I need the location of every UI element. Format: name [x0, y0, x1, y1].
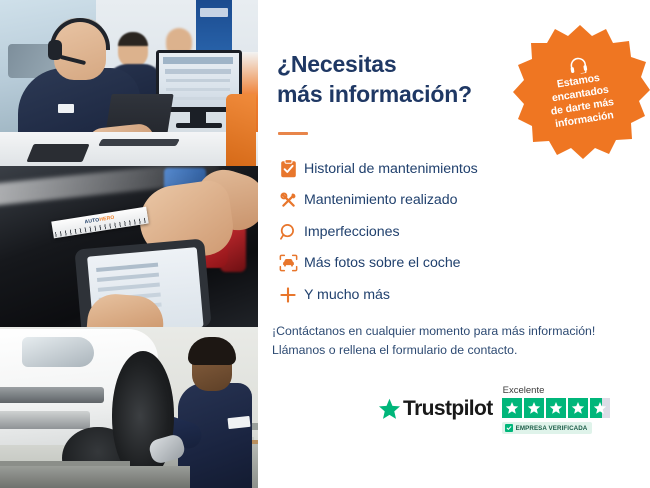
car-lift [0, 466, 190, 488]
contact-text-line-1: ¡Contáctanos en cualquier momento para m… [272, 322, 595, 341]
desk-tablet [26, 144, 89, 162]
starburst-shape [510, 22, 650, 162]
feature-item-maintenance-history: Historial de mantenimientos [272, 153, 612, 185]
star-rating [502, 398, 610, 418]
mechanic-wheel-photo [0, 327, 258, 488]
page-title-line-1: ¿Necesitas [277, 51, 396, 77]
trustpilot-star-icon [378, 398, 401, 420]
car-scan-icon [272, 254, 304, 272]
mechanic-logo-patch [227, 416, 250, 429]
page-title-line-2: más información? [277, 81, 472, 107]
feature-item-much-more: Y mucho más [272, 279, 612, 311]
trustpilot-wordmark: Trustpilot [403, 397, 493, 421]
feature-label: Imperfecciones [304, 224, 400, 240]
plus-icon [272, 286, 304, 304]
call-center-agents-photo [0, 0, 258, 166]
trustpilot-widget[interactable]: Trustpilot Excelente EMPRESA VERIFICADA [378, 385, 610, 434]
mechanic-hair [188, 337, 236, 365]
verified-badge-label: EMPRESA VERIFICADA [516, 425, 588, 432]
content-panel: ¿Necesitas más información? Estamos enca… [258, 0, 650, 488]
feature-item-more-photos: Más fotos sobre el coche [272, 248, 612, 280]
contact-text: ¡Contáctanos en cualquier momento para m… [272, 322, 595, 359]
trustpilot-rating: Excelente EMPRESA VERIFICADA [502, 385, 610, 434]
title-divider [278, 132, 308, 135]
trustpilot-logo[interactable]: Trustpilot [378, 397, 493, 421]
car-grille-lower [0, 411, 90, 429]
rating-label: Excelente [503, 385, 545, 396]
feature-label: Historial de mantenimientos [304, 161, 478, 177]
car-grille-upper [0, 387, 104, 403]
wrench-screwdriver-icon [272, 191, 304, 210]
magnifier-icon [272, 223, 304, 241]
star-5-partial [590, 398, 610, 418]
feature-label: Mantenimiento realizado [304, 192, 457, 208]
photo-column: AUTOHERO [0, 0, 258, 488]
feature-list: Historial de mantenimientos Mantenimient… [272, 153, 612, 311]
check-badge-icon [505, 424, 513, 432]
star-1 [502, 398, 522, 418]
promo-badge: Estamos encantados de darte más informac… [510, 22, 650, 162]
employee-badge [58, 104, 74, 113]
page-title: ¿Necesitas más información? [277, 50, 472, 110]
clipboard-check-icon [272, 159, 304, 178]
verified-badge: EMPRESA VERIFICADA [502, 422, 593, 434]
orange-chair [226, 94, 256, 166]
laptop-keyboard [98, 139, 180, 146]
star-2 [524, 398, 544, 418]
car-headlight [22, 337, 94, 367]
monitor-base [176, 123, 222, 128]
feature-label: Y mucho más [304, 287, 390, 303]
feature-item-maintenance-done: Mantenimiento realizado [272, 185, 612, 217]
feature-item-imperfections: Imperfecciones [272, 216, 612, 248]
feature-label: Más fotos sobre el coche [304, 255, 461, 271]
promo-card: AUTOHERO [0, 0, 650, 488]
star-3 [546, 398, 566, 418]
car-inspection-ruler-photo: AUTOHERO [0, 166, 258, 327]
contact-text-line-2: Llámanos o rellena el formulario de cont… [272, 341, 595, 360]
star-4 [568, 398, 588, 418]
